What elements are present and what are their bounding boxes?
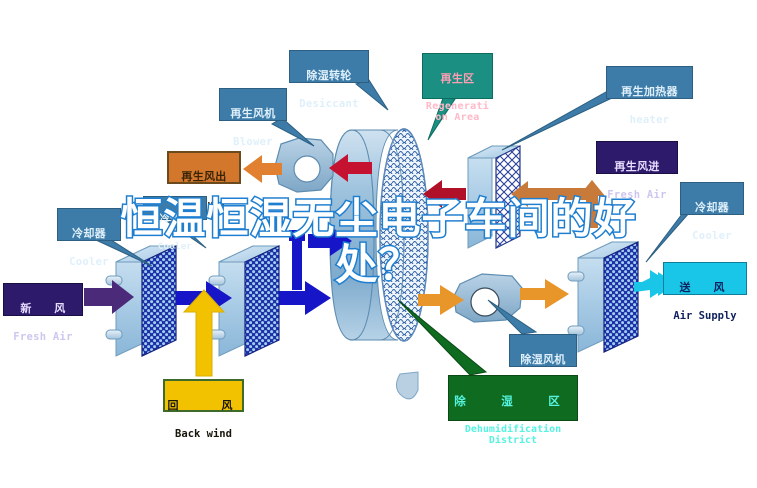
callout-en-text: Blower: [220, 137, 286, 148]
callout-cn-text: 除 湿 区: [449, 395, 577, 407]
callout-regen-blower[interactable]: 再生风机 Blower: [219, 88, 287, 121]
callout-en-text: Regenerati on Area: [423, 102, 492, 124]
callout-cn-text: 回 风: [165, 400, 242, 412]
callout-cn-text: 除湿风机: [510, 354, 576, 366]
callout-dehumidify-blower[interactable]: 除湿风机 Blower: [509, 334, 577, 367]
callout-regen-heater[interactable]: 再生加热器 heater: [606, 66, 693, 99]
callout-regen-exhaust[interactable]: 再生风出 Exhaust: [167, 151, 241, 184]
callout-cn-text: 再生加热器: [607, 86, 692, 98]
callout-cn-text: 新 风: [4, 303, 82, 315]
callout-regeneration-area[interactable]: 再生区 Regenerati on Area: [422, 53, 493, 99]
callout-en-text: Back wind: [165, 429, 242, 440]
headline-line-2: 处？: [0, 242, 757, 288]
callout-dehumidify-area[interactable]: 除 湿 区 Dehumidification District: [448, 375, 578, 421]
callout-en-text: heater: [607, 115, 692, 126]
callout-en-text: Fresh Air: [4, 332, 82, 343]
callout-en-text: Air Supply: [664, 311, 746, 322]
overlay-headline: 恒温恒湿无尘电子车间的好 处？: [0, 196, 757, 288]
callout-back-wind[interactable]: 回 风 Back wind: [163, 379, 244, 412]
callout-cn-text: 再生风机: [220, 108, 286, 120]
callout-en-text: Dehumidification District: [449, 425, 577, 447]
callout-regen-fresh-air[interactable]: 再生风进 Fresh Air: [596, 141, 678, 174]
diagram-canvas: 除湿转轮 Desiccant 再生风机 Blower 再生区 Regenerat…: [0, 0, 757, 488]
callout-cn-text: 再生风进: [597, 161, 677, 173]
callout-en-text: Desiccant: [290, 99, 368, 110]
callout-cn-text: 再生区: [423, 73, 492, 85]
callout-cn-text: 除湿转轮: [290, 70, 368, 82]
callout-cn-text: 再生风出: [169, 171, 239, 183]
headline-line-1: 恒温恒湿无尘电子车间的好: [0, 196, 757, 242]
callout-desiccant-rotor[interactable]: 除湿转轮 Desiccant: [289, 50, 369, 83]
